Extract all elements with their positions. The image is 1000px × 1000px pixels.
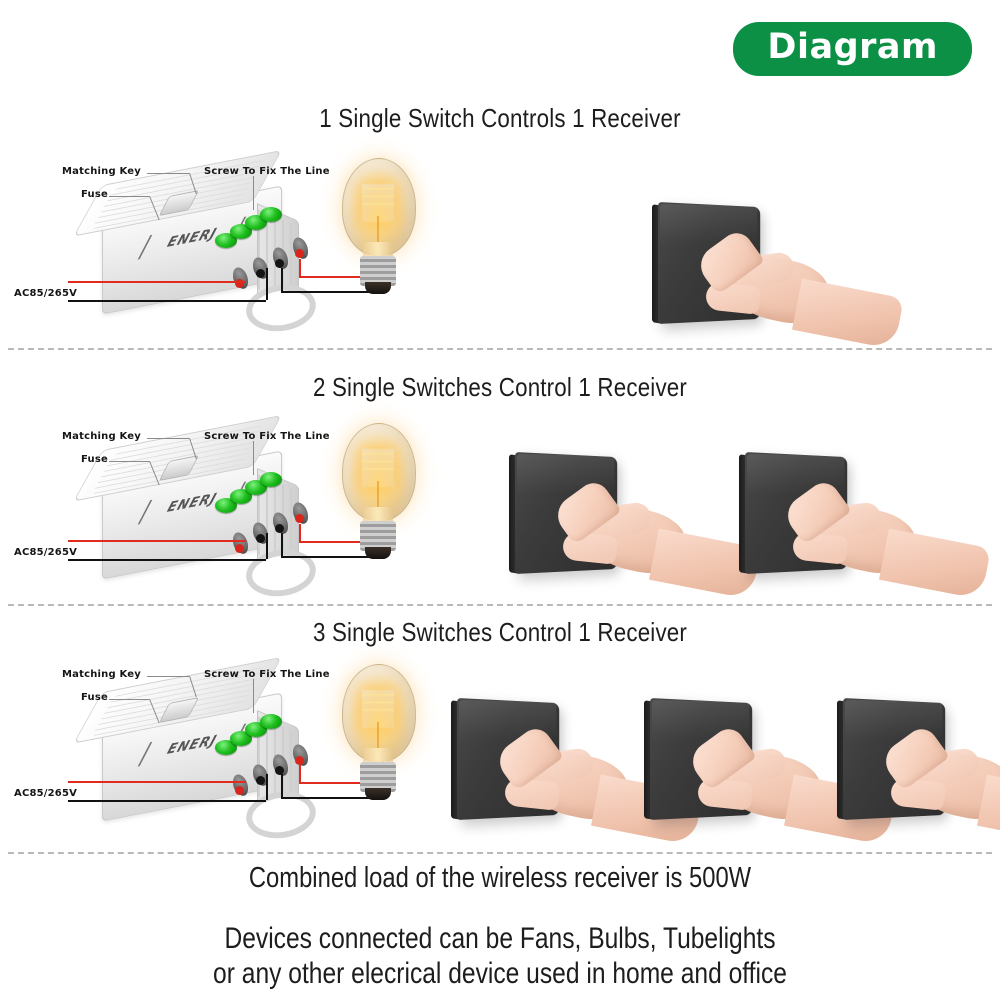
- fuse-label: Fuse: [81, 692, 108, 703]
- fuse-leader: [109, 461, 149, 462]
- hand-forearm: [792, 279, 904, 350]
- live-out-dot: [295, 249, 304, 258]
- screw-label: Screw To Fix The Line: [204, 669, 330, 680]
- load-neutral-riser: [281, 268, 283, 292]
- neutral-terminal-dot: [256, 776, 265, 785]
- live-terminal-dot: [235, 786, 244, 795]
- screw-label: Screw To Fix The Line: [204, 166, 330, 177]
- pressing-hand: [771, 490, 967, 610]
- pressing-hand: [684, 240, 880, 360]
- supply-live-wire: [68, 540, 246, 542]
- neutral-out-dot: [275, 259, 284, 268]
- load-neutral-riser: [281, 774, 283, 798]
- section-divider-3: [8, 852, 992, 854]
- power-label: AC85/265V: [14, 288, 77, 299]
- supply-neutral-wire: [68, 800, 266, 802]
- light-bulb-3: [336, 664, 420, 804]
- matching-key-label: Matching Key: [62, 431, 141, 442]
- screw-leader: [253, 679, 254, 713]
- live-out-dot: [295, 514, 304, 523]
- receiver-module-2: ENERJ: [18, 430, 348, 610]
- supply-neutral-wire: [68, 559, 266, 561]
- power-label: AC85/265V: [14, 788, 77, 799]
- footer-line-1: Combined load of the wireless receiver i…: [90, 862, 910, 895]
- section-divider-1: [8, 348, 992, 350]
- wall-switch-2a[interactable]: [505, 446, 735, 611]
- wall-switch-2b[interactable]: [735, 446, 965, 611]
- supply-live-wire: [68, 281, 246, 283]
- matching-key-leader: [147, 676, 189, 677]
- section-2-title: 2 Single Switches Control 1 Receiver: [70, 372, 930, 403]
- light-bulb-1: [336, 158, 420, 298]
- wall-switch-3c[interactable]: [833, 692, 1000, 857]
- matching-key-label: Matching Key: [62, 166, 141, 177]
- fuse-leader: [109, 699, 149, 700]
- load-neutral-riser: [281, 533, 283, 557]
- screw-leader: [253, 176, 254, 210]
- footer-line-3: or any other elecrical device used in ho…: [90, 957, 910, 991]
- wall-switch-1[interactable]: [648, 196, 878, 361]
- supply-neutral-riser: [266, 774, 268, 800]
- matching-key-label: Matching Key: [62, 669, 141, 680]
- light-bulb-2: [336, 423, 420, 563]
- receiver-module-3: ENERJ: [18, 672, 348, 852]
- footer-line-2: Devices connected can be Fans, Bulbs, Tu…: [90, 922, 910, 956]
- receiver-module-1: ENERJ: [18, 165, 348, 345]
- diagram-page: Diagram 1 Single Switch Controls 1 Recei…: [0, 0, 1000, 1000]
- fuse-label: Fuse: [81, 454, 108, 465]
- neutral-terminal-dot: [256, 269, 265, 278]
- matching-key-leader: [147, 173, 189, 174]
- load-live-riser: [299, 765, 301, 783]
- live-terminal-dot: [235, 544, 244, 553]
- load-live-riser: [299, 259, 301, 277]
- section-3-title: 3 Single Switches Control 1 Receiver: [70, 617, 930, 648]
- pressing-hand: [869, 736, 1000, 856]
- live-out-dot: [295, 756, 304, 765]
- fuse-label: Fuse: [81, 189, 108, 200]
- neutral-terminal-dot: [256, 534, 265, 543]
- supply-live-wire: [68, 781, 246, 783]
- neutral-out-dot: [275, 524, 284, 533]
- load-live-riser: [299, 524, 301, 542]
- power-label: AC85/265V: [14, 547, 77, 558]
- supply-neutral-riser: [266, 533, 268, 559]
- bulb-contact-tip: [365, 788, 391, 800]
- hand-forearm: [879, 529, 991, 600]
- screw-leader: [253, 441, 254, 475]
- terminal-screw-icon: [260, 207, 282, 222]
- fuse-leader: [109, 196, 149, 197]
- terminal-screw-icon: [260, 472, 282, 487]
- bulb-contact-tip: [365, 547, 391, 559]
- supply-neutral-wire: [68, 300, 266, 302]
- pressing-hand: [541, 490, 737, 610]
- terminal-screw-icon: [260, 714, 282, 729]
- screw-label: Screw To Fix The Line: [204, 431, 330, 442]
- supply-neutral-riser: [266, 268, 268, 300]
- section-1-title: 1 Single Switch Controls 1 Receiver: [70, 103, 930, 134]
- matching-key-leader: [147, 438, 189, 439]
- diagram-badge: Diagram: [733, 22, 972, 76]
- bulb-contact-tip: [365, 282, 391, 294]
- section-divider-2: [8, 604, 992, 606]
